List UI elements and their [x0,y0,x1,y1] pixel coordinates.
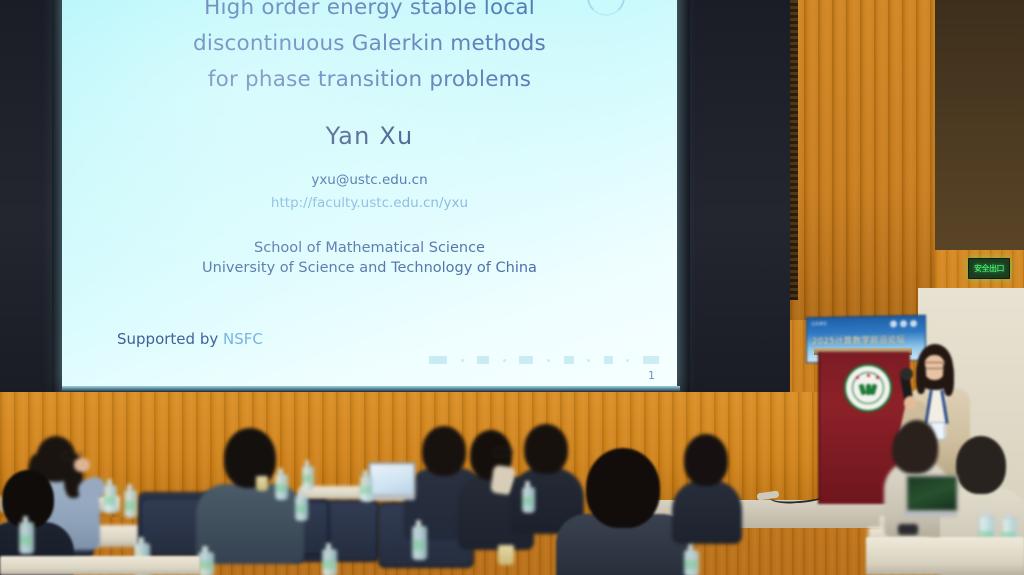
person-head [586,448,660,528]
nav-dot[interactable] [547,359,550,362]
slide-page-number: 1 [648,369,655,382]
slide-affiliation-school: School of Mathematical Science [62,240,677,256]
nav-segment[interactable] [477,356,489,364]
water-bottle [275,468,286,498]
desk [866,537,1024,575]
speaker-glasses-icon [924,362,944,369]
laptop[interactable] [906,475,954,517]
laptop-screen [906,475,958,512]
banner-logos [890,320,917,328]
water-bottle [684,544,697,575]
nav-dot[interactable] [461,359,464,362]
slide-title-line-1: High order energy stable local [62,0,677,26]
water-bottle [522,481,533,511]
laptop-base [903,511,958,517]
beamer-navigation-bar[interactable] [429,354,659,366]
upper-right-dark-wall [935,0,1024,250]
emblem-figures [860,382,876,395]
funding-prefix: Supported by [117,330,223,348]
exit-sign-label: 安全出口 [974,263,1004,274]
audience-member [196,428,306,553]
water-bottle [295,489,306,519]
banner-organizer-text: 主办单位 [811,321,827,327]
funding-agency: NSFC [223,330,263,348]
water-bottle [322,543,335,575]
audience-member [672,434,742,538]
screen-frame-right [676,0,690,392]
person-head [224,428,276,488]
person-head [956,436,1006,494]
nav-dot[interactable] [626,359,629,362]
slide-title: High order energy stable local discontin… [62,0,677,98]
laptop-screen [368,462,416,496]
nav-segment[interactable] [643,356,659,364]
paper-cup [256,476,268,491]
person-head [684,434,728,486]
nav-dot[interactable] [587,359,590,362]
presentation-slide: High order energy stable local discontin… [62,0,677,390]
slide-funding-note: Supported by NSFC [117,330,263,348]
water-bottle [198,546,212,575]
water-bottle [360,470,371,500]
person-torso [672,480,742,544]
audience-member [892,424,940,480]
lecture-hall-photo: High order energy stable local discontin… [0,0,1024,575]
slide-title-line-2: discontinuous Galerkin methods [62,26,677,62]
nav-segment[interactable] [564,356,574,364]
emergency-exit-sign: 安全出口 [968,258,1010,279]
laptop[interactable] [368,462,412,500]
right-wall-panel [790,0,935,320]
speaker-hand [904,396,917,410]
nav-segment[interactable] [519,356,533,364]
paper-cup [498,545,514,565]
speaker-hair-left [916,360,926,394]
desk [0,556,200,575]
slide-author-email: yxu@ustc.edu.cn [62,172,677,188]
water-bottle [104,479,115,511]
slide-affiliation-university: University of Science and Technology of … [62,260,677,276]
slide-title-line-3: for phase transition problems [62,62,677,98]
microphone-head [900,368,913,380]
slide-author-name: Yan Xu [62,122,677,150]
speaker-hair-right [943,360,954,396]
water-bottle [19,516,32,552]
nav-segment[interactable] [604,356,613,364]
person-head [892,424,938,474]
slide-author-homepage-url[interactable]: http://faculty.ustc.edu.cn/yxu [62,195,677,211]
water-bottle [302,460,312,488]
person-face [74,458,90,472]
water-bottle [412,520,425,558]
nav-dot[interactable] [503,359,506,362]
mobile-phone[interactable] [898,524,918,535]
nav-segment[interactable] [429,356,447,364]
water-bottle [124,484,135,516]
university-emblem-icon [844,364,892,412]
